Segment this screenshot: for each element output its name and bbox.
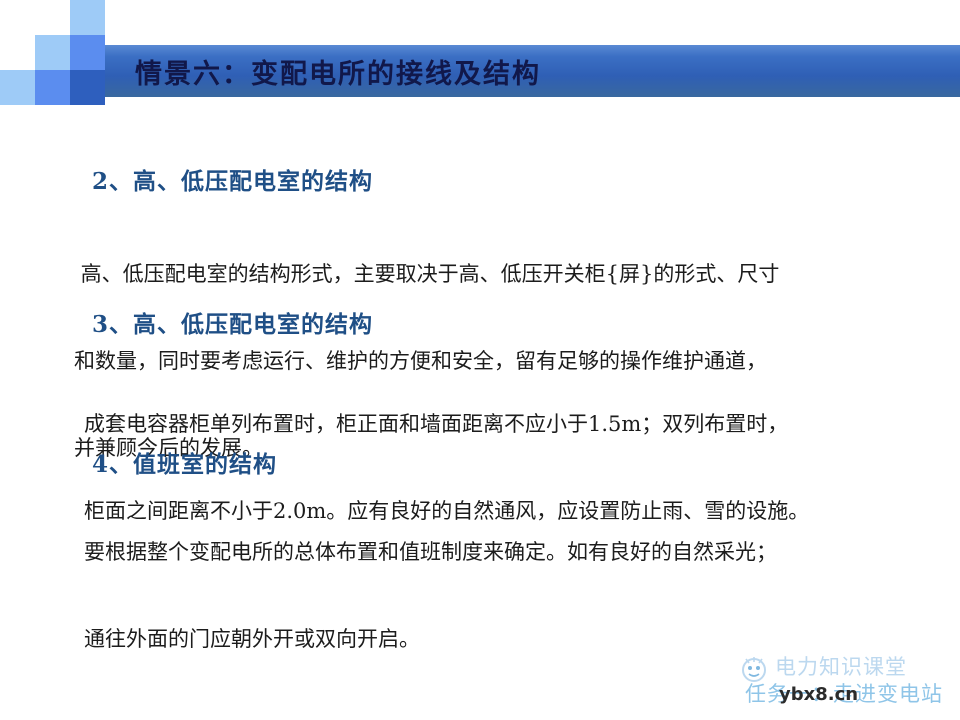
watermark: 电力知识课堂 任务一：走进变电站 ybx8.cn (735, 648, 960, 714)
body-line: 成套电容器柜单列布置时，柜正面和墙面距离不应小于1.5m；双列布置时， (84, 410, 809, 439)
decor-block-light-top (70, 0, 105, 35)
body-line: 要根据整个变配电所的总体布置和值班制度来确定。如有良好的自然采光； (84, 538, 777, 567)
section-body-4: 要根据整个变配电所的总体布置和值班制度来确定。如有良好的自然采光； 通往外面的门… (84, 480, 777, 712)
section-heading-2: 2、高、低压配电室的结构 (92, 162, 373, 196)
body-line: 通往外面的门应朝外开或双向开启。 (84, 625, 777, 654)
section-heading-3: 3、高、低压配电室的结构 (92, 305, 373, 339)
body-line: 高、低压配电室的结构形式，主要取决于高、低压开关柜{屏}的形式、尺寸 (74, 260, 779, 289)
section-heading-4: 4、值班室的结构 (92, 445, 277, 479)
watermark-url: ybx8.cn (779, 684, 858, 705)
decor-block-mid-blue (70, 35, 105, 70)
watermark-brand: 电力知识课堂 (775, 651, 907, 681)
slide-title-bar: 情景六：变配电所的接线及结构 (105, 45, 960, 97)
decor-block-mid-blue-bottom (35, 70, 70, 105)
decor-block-dark-blue (70, 70, 105, 105)
page-title: 情景六：变配电所的接线及结构 (135, 52, 541, 91)
decor-block-light-bottom-left (0, 70, 35, 105)
decor-block-light-mid-left (35, 35, 70, 70)
slide-canvas: 情景六：变配电所的接线及结构 2、高、低压配电室的结构 高、低压配电室的结构形式… (0, 0, 960, 720)
